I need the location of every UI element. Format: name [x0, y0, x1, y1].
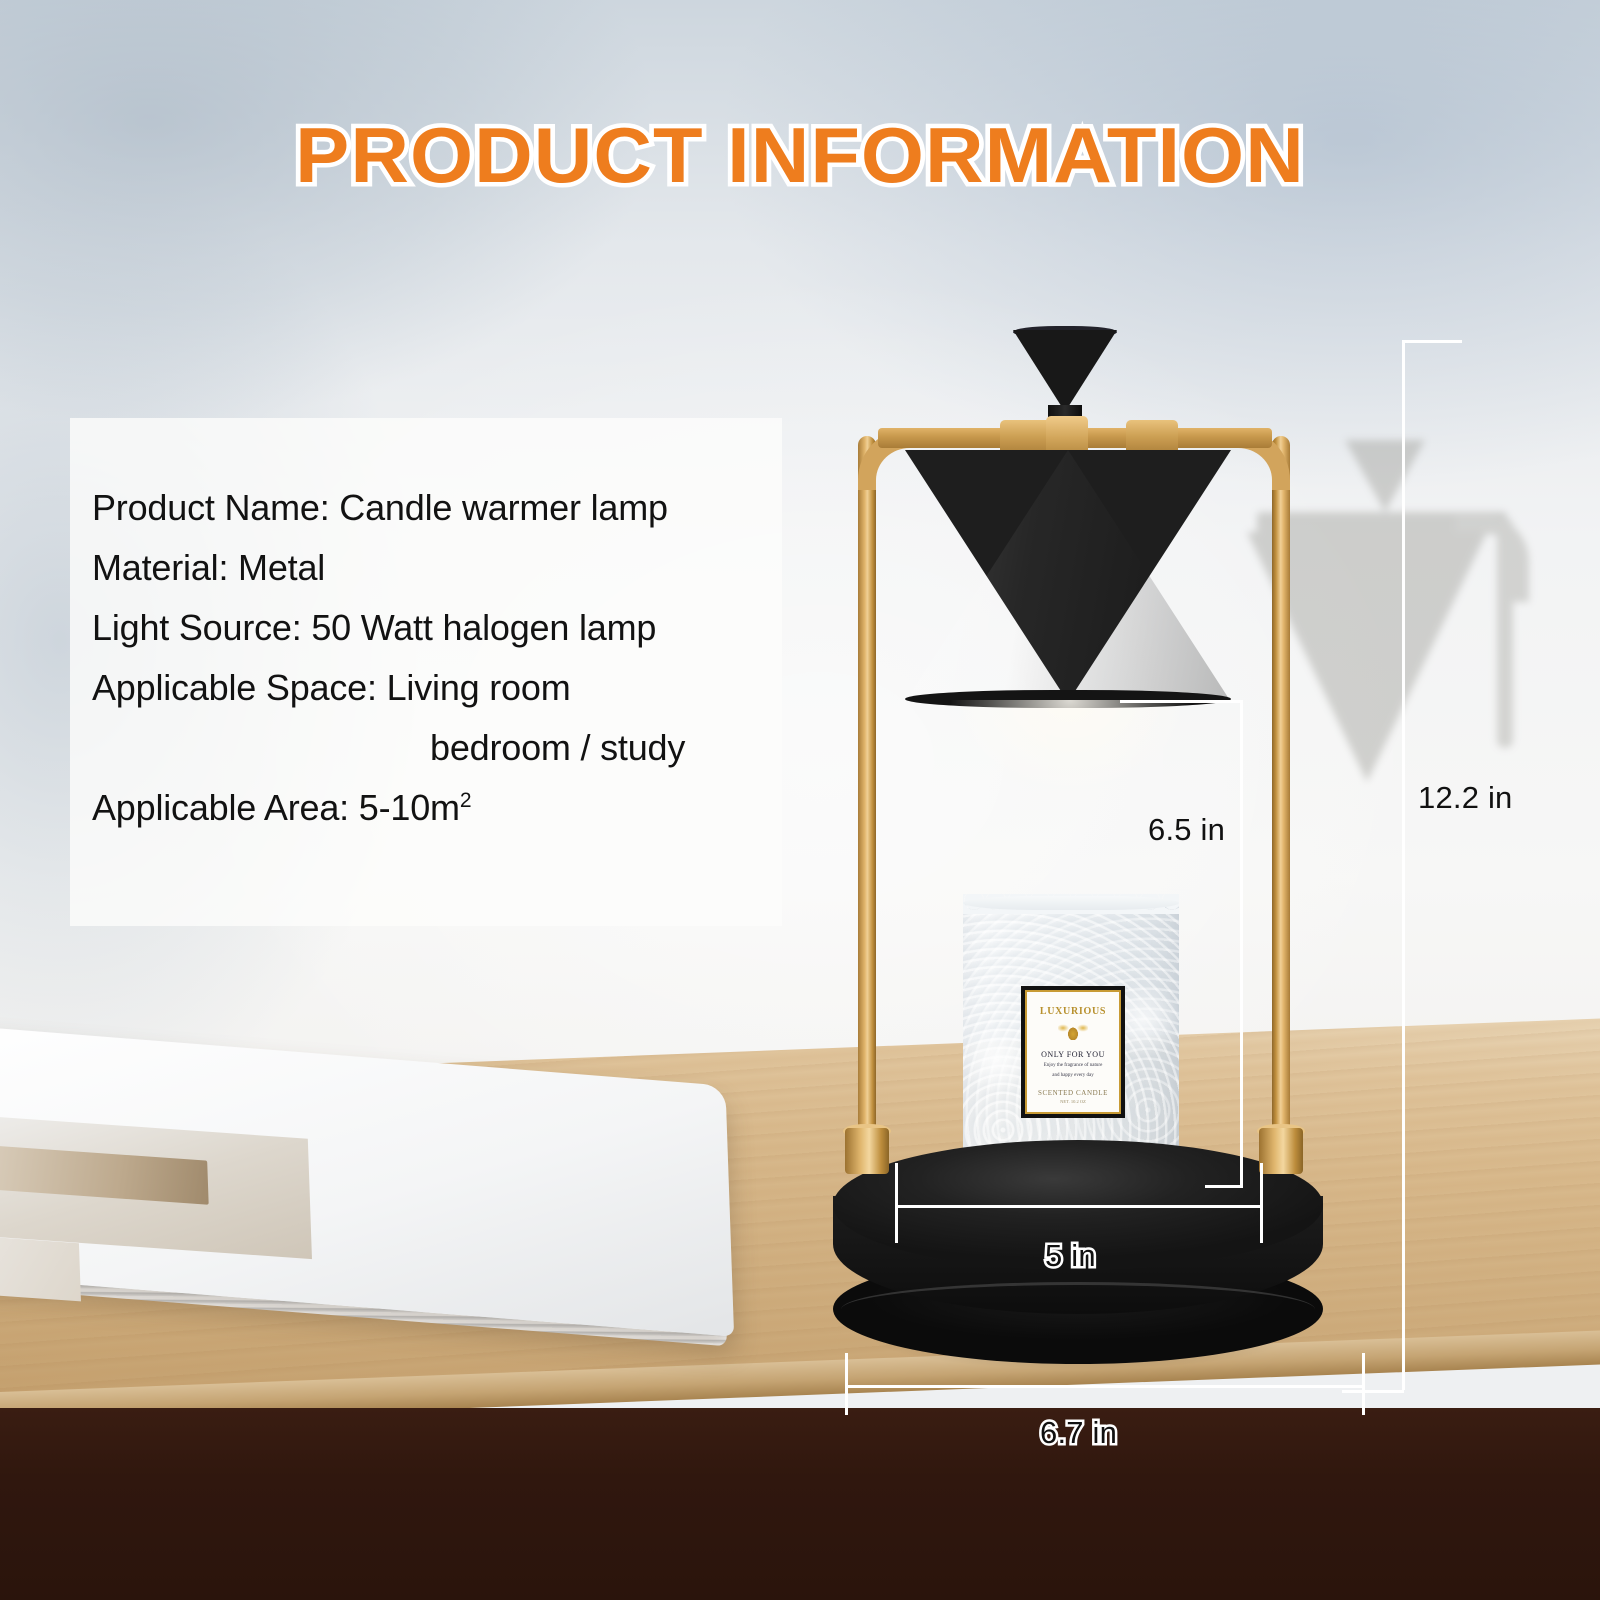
dim-tick-inner-base-right: [1260, 1163, 1263, 1243]
dim-line-shade-clearance: [1240, 700, 1243, 1187]
candle-label-inner: LUXURIOUS ONLY FOR YOU Enjoy the fragran…: [1025, 990, 1121, 1114]
candle-label-tagline-1: Enjoy the fragrance of nature: [1027, 1062, 1119, 1069]
candle-label-headline: ONLY FOR YOU: [1027, 1050, 1119, 1059]
dim-line-base-diameter: [845, 1385, 1365, 1388]
candle-label-product-type: SCENTED CANDLE: [1027, 1089, 1119, 1097]
lamp-leg-left: [858, 436, 876, 1156]
dim-tick-base-diameter-left: [845, 1353, 848, 1415]
finial-cone: [1013, 330, 1117, 412]
dim-line-inner-base-width: [895, 1205, 1263, 1208]
dim-label-shade-clearance: 6.5 in: [1148, 812, 1225, 848]
base-groove: [841, 1282, 1315, 1337]
leg-foot-right: [1259, 1128, 1303, 1174]
dim-label-inner-base-width: 5 in: [1045, 1238, 1096, 1274]
dim-tick-inner-base-left: [895, 1163, 898, 1243]
dim-line-overall-height: [1402, 340, 1405, 1390]
lamp-leg-right: [1272, 436, 1290, 1156]
dim-label-overall-height: 12.2 in: [1418, 780, 1512, 816]
dim-tick-shade-clearance-bottom: [1205, 1185, 1243, 1188]
candle-label-tagline-2: and happy every day: [1027, 1072, 1119, 1079]
dim-tick-overall-height-bottom: [1342, 1390, 1404, 1393]
candle-label: LUXURIOUS ONLY FOR YOU Enjoy the fragran…: [1021, 986, 1125, 1118]
leg-foot-left: [845, 1128, 889, 1174]
dim-label-base-diameter: 6.7 in: [1040, 1415, 1117, 1451]
bee-icon: [1058, 1022, 1088, 1040]
product-information-infographic: PRODUCT INFORMATION Product Name: Candle…: [0, 0, 1600, 1600]
dim-tick-base-diameter-right: [1362, 1353, 1365, 1415]
dim-tick-overall-height-top: [1402, 340, 1462, 343]
candle-warmer-lamp: LUXURIOUS ONLY FOR YOU Enjoy the fragran…: [0, 0, 1600, 1600]
candle-top-rim: [963, 896, 1179, 910]
candle-label-brand: LUXURIOUS: [1027, 1006, 1119, 1017]
candle-label-net-weight: NET. 10.2 OZ: [1027, 1099, 1119, 1104]
dim-tick-shade-clearance-top: [1120, 700, 1242, 703]
